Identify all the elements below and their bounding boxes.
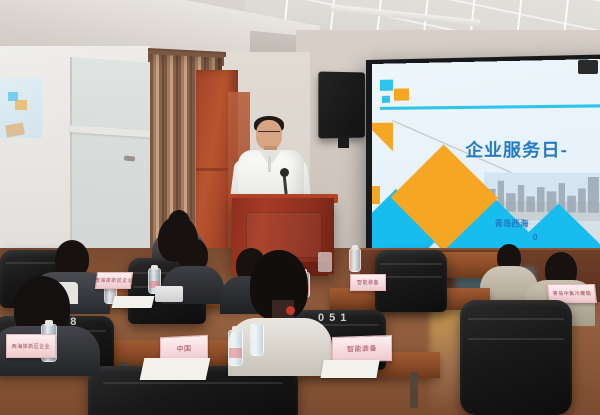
hair-tie-icon — [286, 306, 295, 315]
slide-decor-square-cyan-small — [382, 96, 390, 103]
water-bottle[interactable] — [250, 324, 264, 356]
laptop[interactable] — [155, 286, 183, 302]
water-bottle[interactable] — [228, 330, 243, 366]
table-leg — [410, 372, 418, 408]
slide-decor-square-cyan — [380, 80, 393, 91]
name-card: 西海岸新区企业 — [6, 334, 56, 358]
name-card-text: 西海岸新区企业 — [94, 277, 133, 284]
slide-decor-triangle-orange — [372, 109, 407, 151]
slide-subtitle: 青岛西海 — [495, 218, 529, 230]
slide-decor-square-orange-left — [372, 186, 380, 204]
speaker-mount — [338, 136, 349, 148]
door-handle[interactable] — [124, 155, 135, 161]
chair-number: 051 — [318, 312, 351, 324]
slide-decor-square-orange — [394, 88, 409, 100]
name-card-text: 智能装备 — [347, 343, 377, 354]
slide-subtitle-secondary: 0 — [533, 233, 538, 242]
slide-title: 企业服务日- — [465, 135, 600, 162]
projector-icon — [578, 60, 598, 74]
presenter-glasses — [258, 131, 280, 136]
slide-divider-line — [380, 104, 600, 110]
name-card: 智能装备 — [332, 335, 392, 363]
attendee-shoulders — [228, 318, 332, 376]
name-card: 西海岸新区企业 — [95, 272, 133, 289]
conference-room-photo: 企业服务日- 青岛西海 0 — [0, 0, 600, 415]
conference-chair[interactable] — [460, 300, 572, 415]
microphone-icon — [280, 168, 289, 177]
name-card: 智能装备 — [350, 274, 386, 291]
name-card-text: 青岛中集冷藏箱 — [552, 290, 591, 297]
projection-screen[interactable]: 企业服务日- 青岛西海 0 — [372, 59, 600, 255]
name-card-text: 中国 — [177, 344, 192, 355]
water-bottle[interactable] — [349, 248, 361, 272]
name-card-text: 西海岸新区企业 — [12, 343, 51, 350]
document-sheet[interactable] — [140, 358, 211, 380]
document-sheet[interactable] — [112, 296, 155, 308]
presenter-shirt-placket — [268, 156, 271, 172]
water-bottle — [318, 252, 332, 272]
reflection-square-orange — [15, 100, 27, 110]
attendee-head — [158, 216, 198, 262]
document-sheet[interactable] — [320, 360, 379, 378]
wall-speaker-icon — [318, 72, 365, 139]
name-card-text: 智能装备 — [357, 279, 379, 286]
